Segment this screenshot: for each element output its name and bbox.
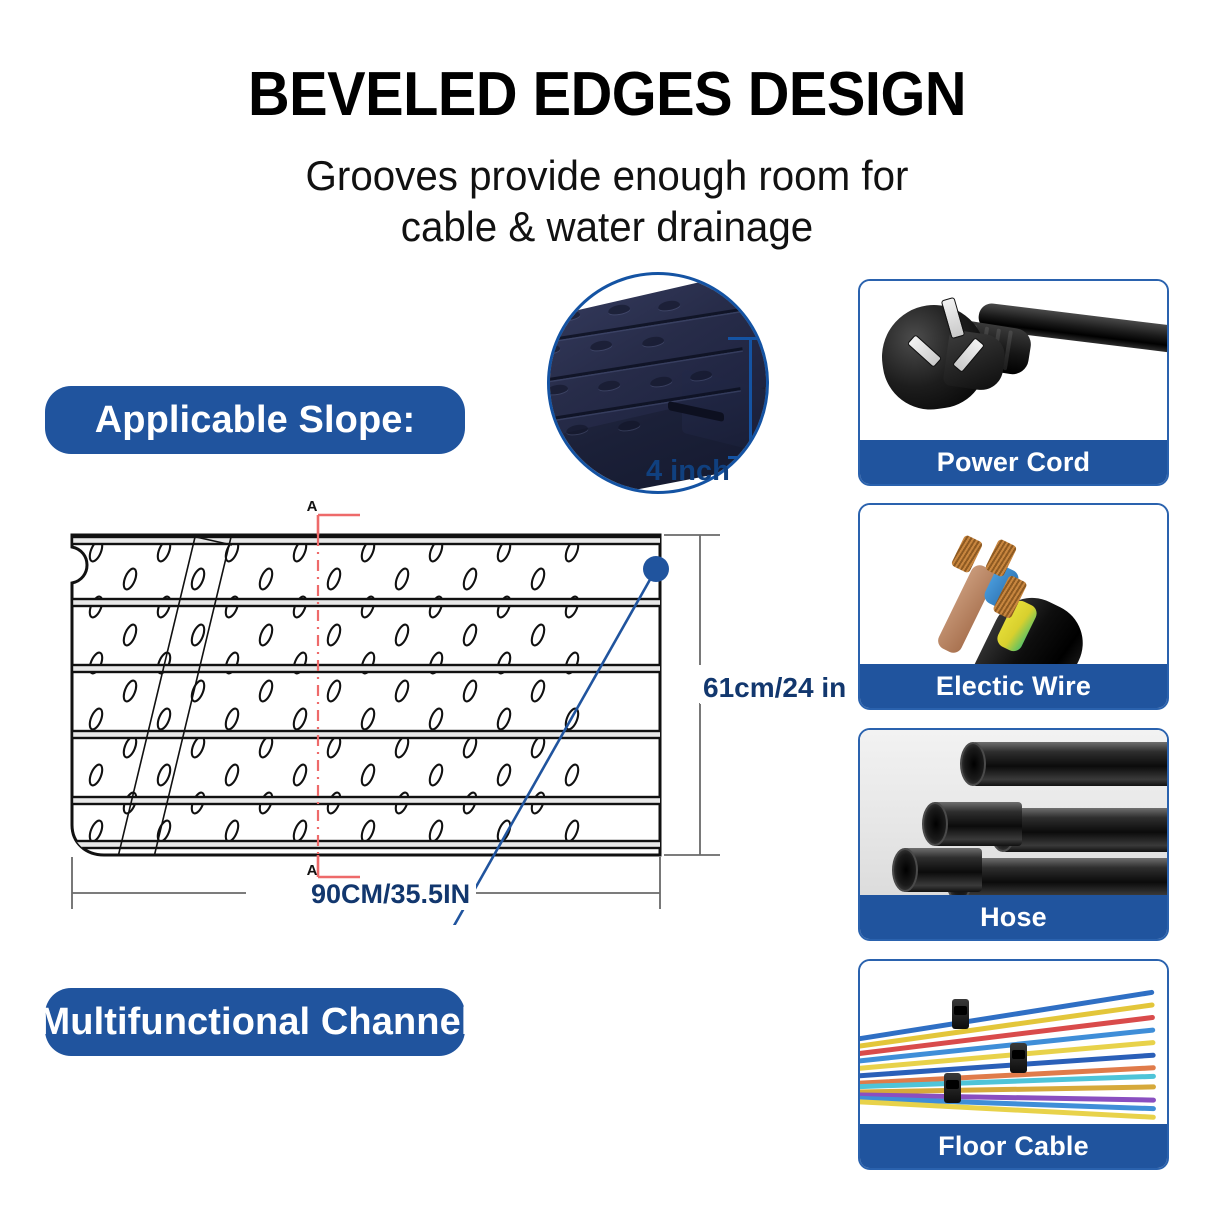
floor-cable-image xyxy=(860,961,1167,1124)
ramp-plate-outline xyxy=(72,535,660,855)
callout-dot xyxy=(643,556,669,582)
pipe-opening xyxy=(960,742,986,786)
pipe xyxy=(972,742,1167,786)
card-electric-wire[interactable]: Electic Wire xyxy=(858,503,1169,710)
badge-applicable-slope: Applicable Slope: xyxy=(45,386,465,454)
section-marker-top-letter: A xyxy=(307,498,318,515)
pipe xyxy=(958,858,1167,895)
badge-multifunctional-channel-label: Multifunctional Channel xyxy=(39,1001,472,1044)
four-inch-label: 4 inch xyxy=(646,455,730,488)
electric-wire-image xyxy=(860,505,1167,664)
card-floor-cable[interactable]: Floor Cable xyxy=(858,959,1169,1170)
subtitle-line-1: Grooves provide enough room for xyxy=(306,152,909,199)
four-inch-dimension-arrow xyxy=(728,337,769,459)
hose-image xyxy=(860,730,1167,895)
card-electric-wire-label: Electic Wire xyxy=(860,664,1167,708)
cable-tie xyxy=(952,999,969,1029)
width-dimension-label: 90CM/35.5IN xyxy=(305,879,476,910)
dimension-line xyxy=(749,337,752,459)
badge-multifunctional-channel: Multifunctional Channel xyxy=(45,988,465,1056)
height-dimension-label: 61cm/24 in xyxy=(700,672,849,704)
pipe xyxy=(1002,808,1167,852)
cable-tie xyxy=(944,1073,961,1103)
card-hose-label: Hose xyxy=(860,895,1167,939)
card-hose[interactable]: Hose xyxy=(858,728,1169,941)
page-title: BEVELED EDGES DESIGN xyxy=(42,62,1171,127)
ramp-technical-drawing: A A xyxy=(0,495,840,925)
section-marker-bottom-letter: A xyxy=(307,862,318,879)
badge-applicable-slope-label: Applicable Slope: xyxy=(95,399,416,442)
card-power-cord-label: Power Cord xyxy=(860,440,1167,484)
subtitle-line-2: cable & water drainage xyxy=(24,201,1189,252)
card-power-cord[interactable]: Power Cord xyxy=(858,279,1169,486)
cable-tie xyxy=(1010,1043,1027,1073)
card-floor-cable-label: Floor Cable xyxy=(860,1124,1167,1168)
page-subtitle: Grooves provide enough room for cable & … xyxy=(24,150,1189,252)
pipe-opening xyxy=(922,802,948,846)
dimension-cap-bottom xyxy=(728,456,769,459)
infographic-page: BEVELED EDGES DESIGN Grooves provide eno… xyxy=(0,0,1214,1214)
pipe-opening xyxy=(892,848,918,892)
power-cord-image xyxy=(860,281,1167,440)
